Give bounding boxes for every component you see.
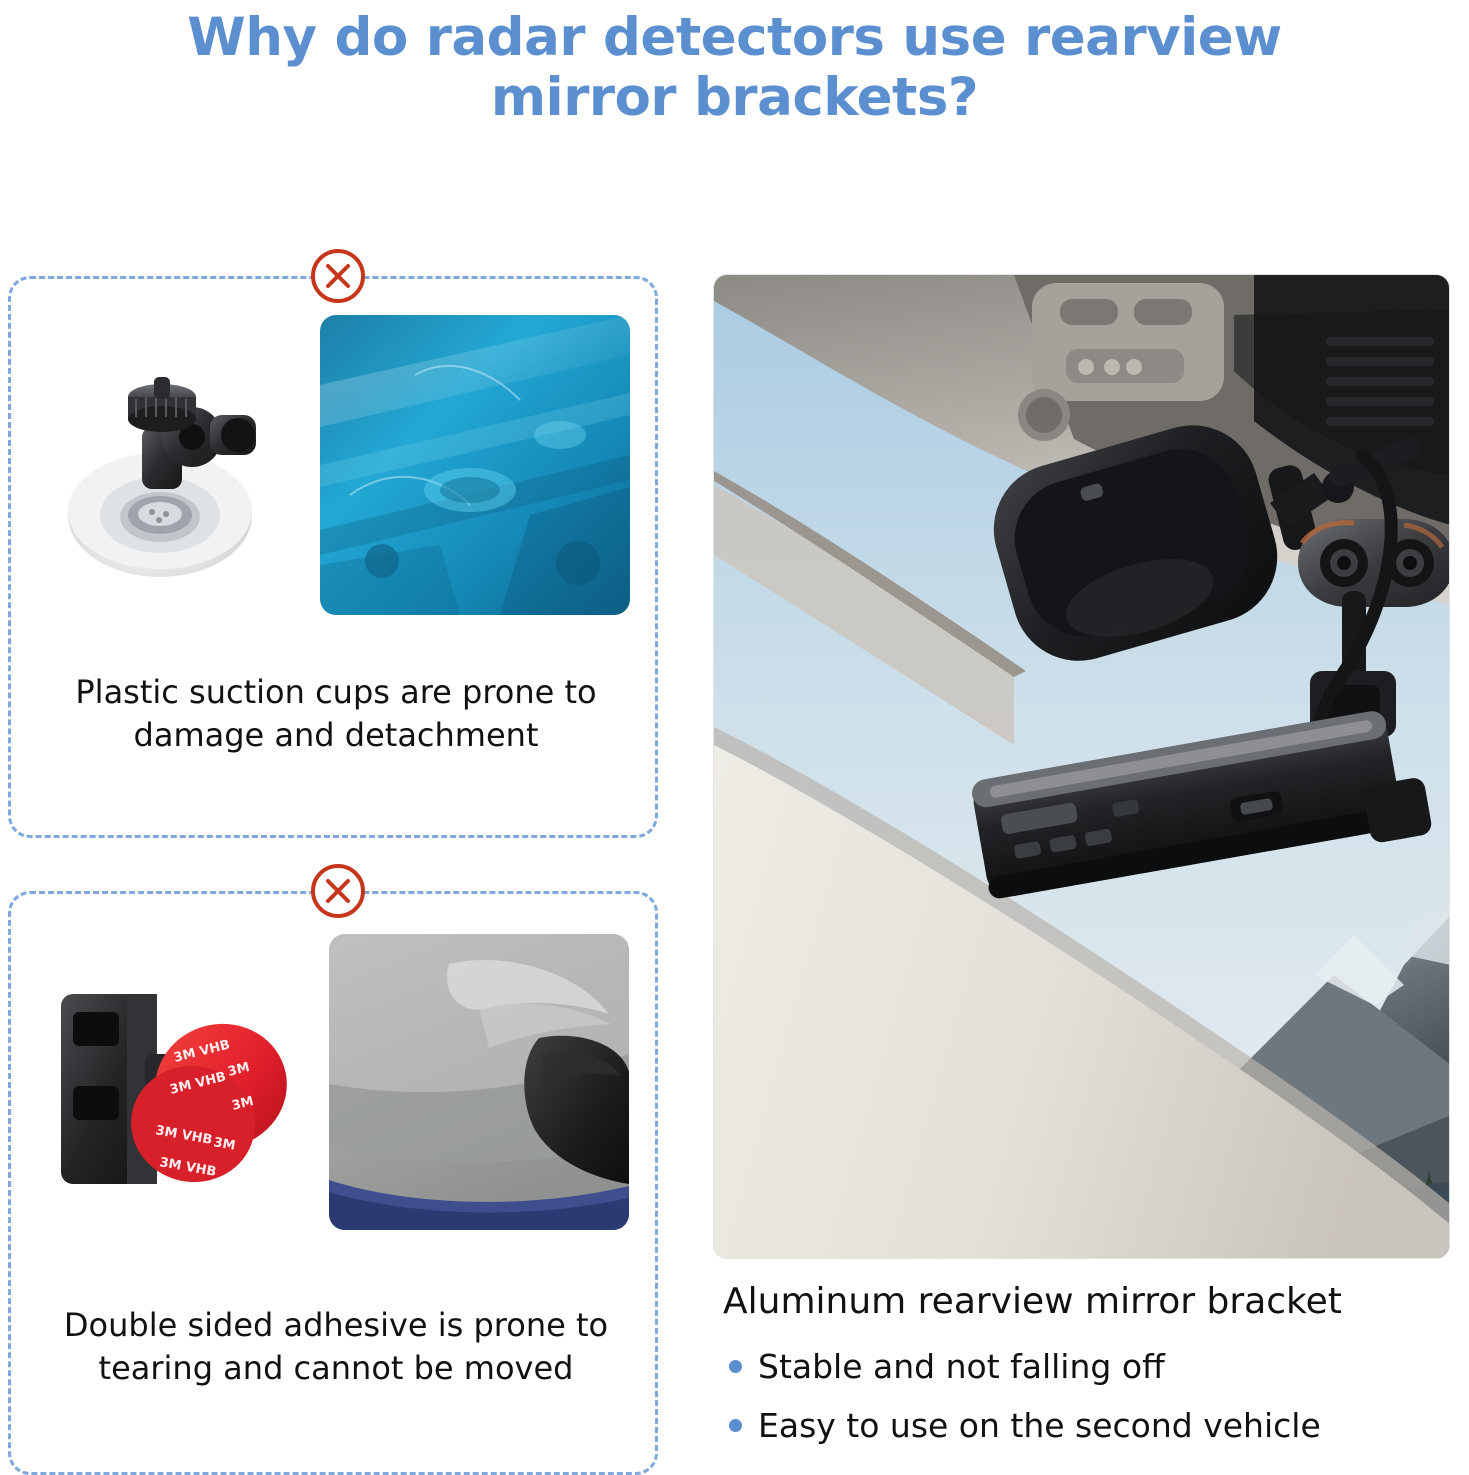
solution-bullets: Stable and not falling off Easy to use o… (729, 1346, 1449, 1465)
drawback-caption-1-line-2: damage and detachment (25, 714, 647, 757)
torn-adhesive-windshield-photo (329, 934, 629, 1230)
bullet-dot-icon (729, 1419, 742, 1432)
drawback-caption-2: Double sided adhesive is prone to tearin… (25, 1304, 647, 1390)
drawback-caption-1-line-1: Plastic suction cups are prone to (25, 671, 647, 714)
suction-cup-mount-photo (42, 315, 302, 615)
content-area: Plastic suction cups are prone to damage… (0, 243, 1469, 1475)
solution-title: Aluminum rearview mirror bracket (723, 1281, 1463, 1322)
aluminum-bracket-hero-photo (713, 274, 1450, 1259)
drawback-caption-1: Plastic suction cups are prone to damage… (25, 671, 647, 757)
solution-bullet-text: Stable and not falling off (758, 1346, 1165, 1387)
drawback-caption-2-line-2: tearing and cannot be moved (25, 1347, 647, 1390)
adhesive-pad-bracket-photo: 3M VHB 3M 3M VHB 3M 3M VHB 3M 3M VHB (43, 934, 311, 1230)
solution-bullet-text: Easy to use on the second vehicle (758, 1405, 1321, 1446)
list-item: Easy to use on the second vehicle (729, 1405, 1449, 1446)
page-title-line-1: Why do radar detectors use rearview (0, 8, 1469, 68)
drawback-caption-2-line-1: Double sided adhesive is prone to (25, 1304, 647, 1347)
list-item: Stable and not falling off (729, 1346, 1449, 1387)
drawback-card-adhesive: 3M VHB 3M 3M VHB 3M 3M VHB 3M 3M VHB (8, 891, 658, 1475)
page-title: Why do radar detectors use rearview mirr… (0, 0, 1469, 128)
solution-column: Aluminum rearview mirror bracket Stable … (713, 243, 1461, 1475)
circle-x-icon-2 (311, 864, 365, 918)
drawback-card-suction-cup: Plastic suction cups are prone to damage… (8, 276, 658, 838)
drawbacks-column: Plastic suction cups are prone to damage… (8, 243, 672, 1475)
page-title-line-2: mirror brackets? (0, 68, 1469, 128)
bullet-dot-icon (729, 1360, 742, 1373)
windshield-suction-damage-photo (320, 315, 630, 615)
circle-x-icon-1 (311, 249, 365, 303)
